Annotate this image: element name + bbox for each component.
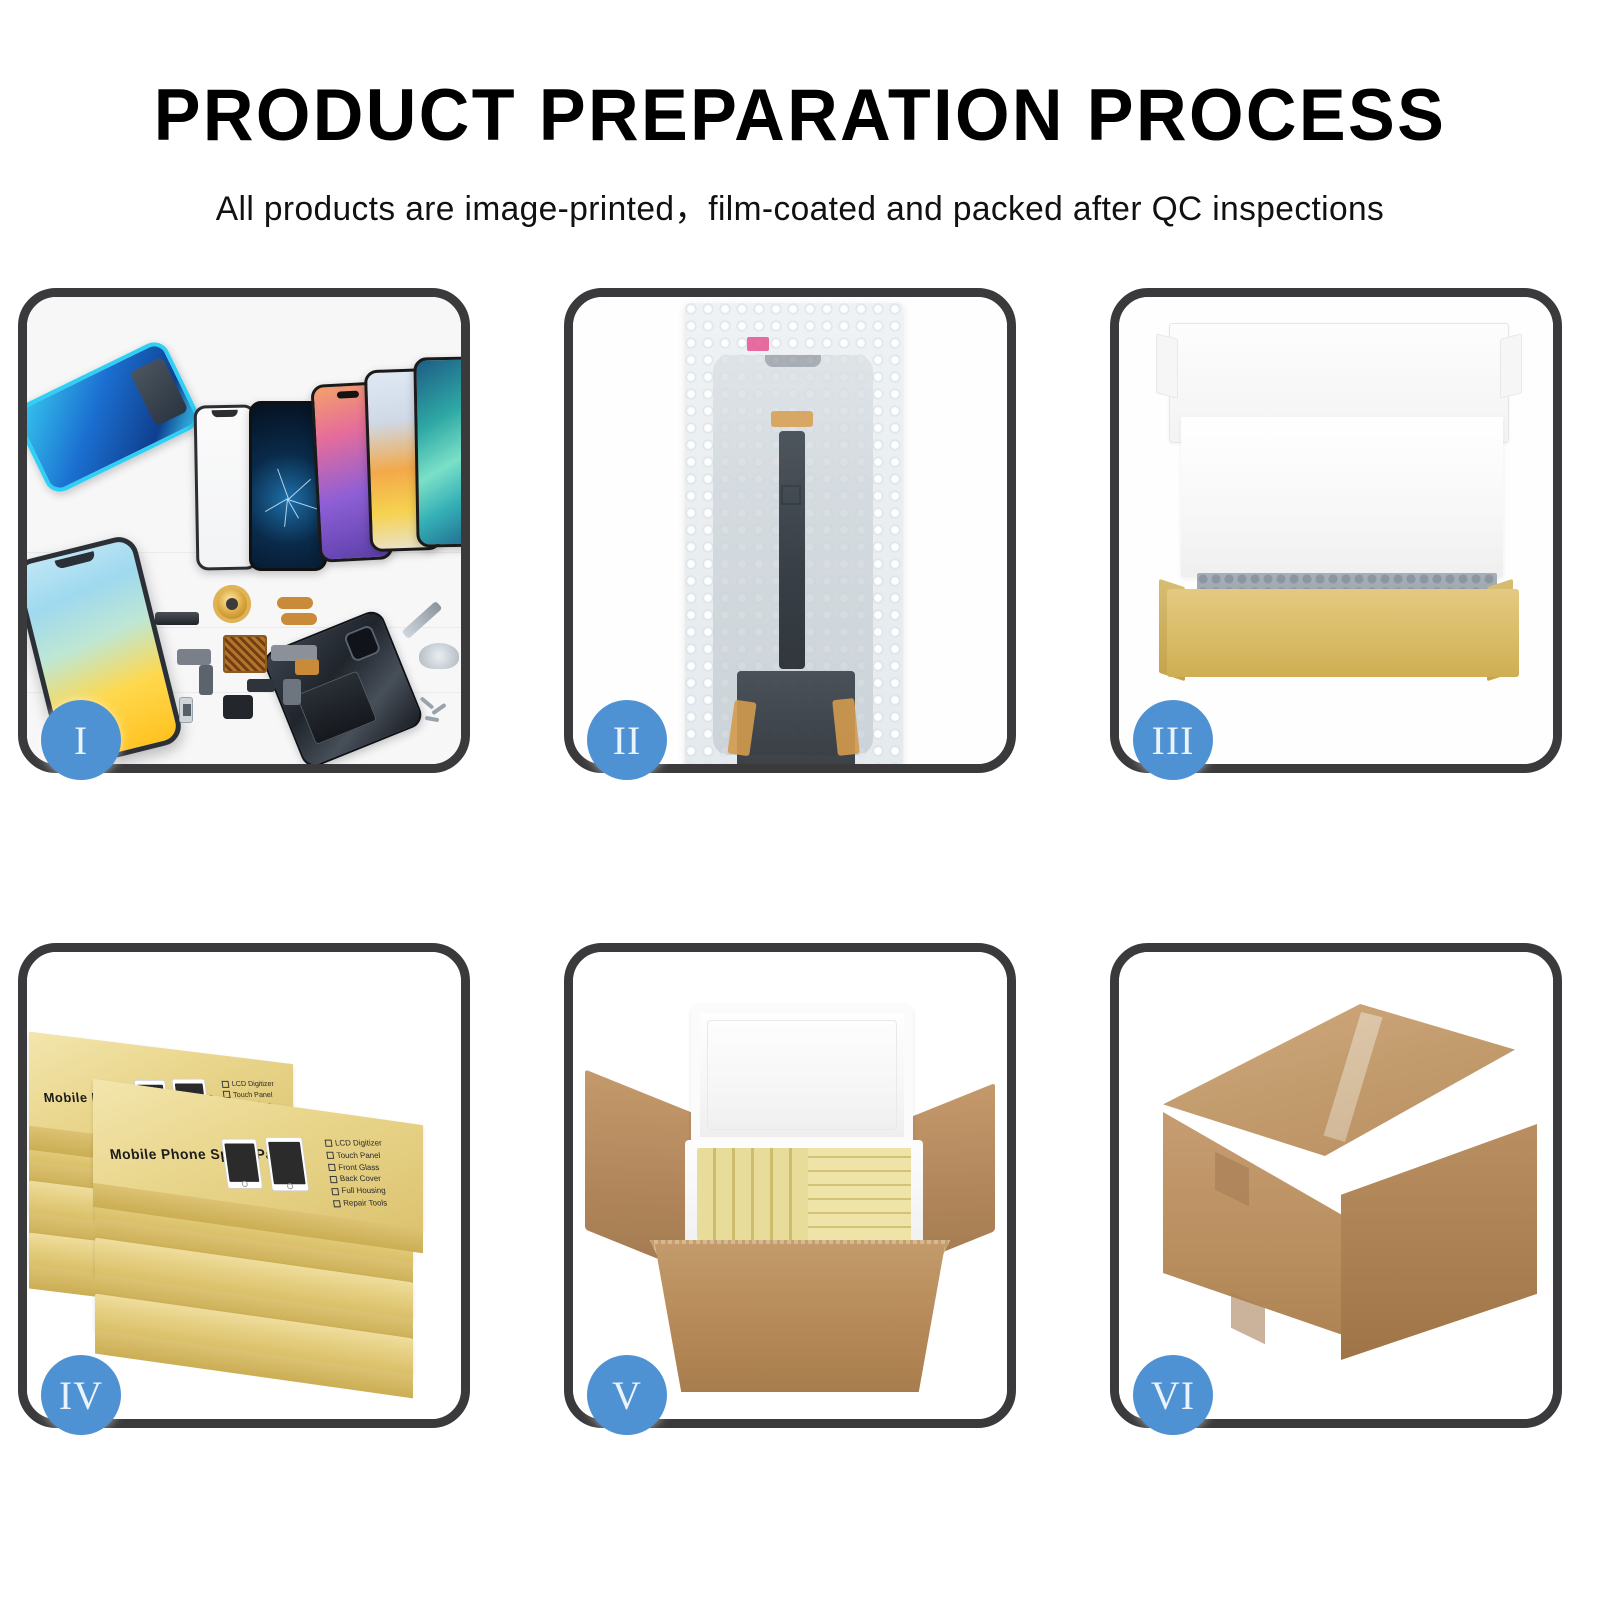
step-1-image	[27, 297, 461, 764]
step-4-image: Mobile Phone Spare Parts LCD Digitizer T…	[27, 952, 461, 1419]
teal-wave-phone	[413, 356, 461, 547]
process-step-card-1: I	[18, 288, 470, 773]
page-subtitle: All products are image-printed，film-coat…	[12, 181, 1588, 230]
carton-packing-scene	[573, 952, 1007, 1419]
step-badge-2: II	[587, 700, 667, 780]
pry-tool-icon	[402, 601, 443, 639]
flex-cable-6	[295, 659, 319, 675]
flex-cable-2	[199, 665, 213, 695]
process-step-grid: I II	[18, 288, 1582, 1408]
step-badge-6: VI	[1133, 1355, 1213, 1435]
checklist-item: Touch Panel	[326, 1150, 384, 1162]
retail-box-thumb-lcd	[222, 1140, 262, 1188]
carton-right-face	[1341, 1124, 1537, 1360]
infographic-page: PRODUCT PREPARATION PROCESS All products…	[0, 0, 1600, 1600]
camera-module	[343, 624, 382, 663]
step-badge-3: III	[1133, 700, 1213, 780]
sim-tray	[179, 697, 193, 723]
front-camera-part	[283, 679, 301, 705]
blue-back-frame	[27, 337, 204, 497]
carton-body	[635, 1244, 965, 1392]
loudspeaker-buzzer	[223, 695, 253, 719]
screwdriver-icon-2	[431, 703, 446, 715]
retail-box-stack-scene: Mobile Phone Spare Parts LCD Digitizer T…	[27, 952, 461, 1419]
gold-retail-boxes-inside	[697, 1148, 911, 1240]
sealed-carton-scene	[1119, 952, 1553, 1419]
process-step-card-5: V	[564, 943, 1016, 1428]
pink-label-tab	[747, 337, 769, 351]
kraft-tray-scene	[1119, 297, 1553, 764]
step-6-image	[1119, 952, 1553, 1419]
bubble-wrap-scene	[573, 297, 1007, 764]
gold-flex-pad	[771, 411, 813, 427]
flex-cable-3	[277, 597, 313, 609]
white-foam-sheet	[1181, 417, 1503, 577]
battery	[296, 670, 377, 745]
screwdriver-icon-1	[420, 696, 435, 709]
flex-cable-4	[281, 613, 317, 625]
wireless-charging-coil	[213, 585, 251, 623]
step-2-image	[573, 297, 1007, 764]
parts-collage-scene	[27, 297, 461, 764]
step-badge-5: V	[587, 1355, 667, 1435]
step-badge-1: I	[41, 700, 121, 780]
bubble-wrap-bag	[685, 303, 903, 764]
checklist-item: Full Housing	[331, 1185, 389, 1197]
earpiece-speaker	[155, 612, 199, 625]
styrofoam-lid	[691, 1004, 913, 1146]
retail-box-checklist: LCD Digitizer Touch Panel Front Glass Ba…	[324, 1138, 390, 1210]
retail-box-thumb-digitizer	[266, 1138, 309, 1191]
flex-cable-1	[177, 649, 211, 665]
cleaning-brush-icon	[419, 643, 459, 669]
retail-box-top-front: Mobile Phone Spare Parts LCD Digitizer T…	[93, 1079, 423, 1231]
checklist-item: Front Glass	[328, 1162, 386, 1174]
step-5-image	[573, 952, 1007, 1419]
process-step-card-6: VI	[1110, 943, 1562, 1428]
screwdriver-icon-3	[425, 716, 439, 722]
step-3-image	[1119, 297, 1553, 764]
step-badge-4: IV	[41, 1355, 121, 1435]
checklist-item: Repair Tools	[333, 1197, 391, 1209]
process-step-card-3: III	[1110, 288, 1562, 773]
kraft-tray-front	[1167, 589, 1519, 677]
checklist-item: Back Cover	[329, 1173, 387, 1185]
crack-pattern	[288, 499, 289, 500]
header: PRODUCT PREPARATION PROCESS All products…	[0, 0, 1600, 230]
process-step-card-4: Mobile Phone Spare Parts LCD Digitizer T…	[18, 943, 470, 1428]
checklist-item: LCD Digitizer	[324, 1138, 382, 1150]
logic-board-chip	[223, 635, 267, 673]
main-flex-strip	[779, 431, 805, 669]
home-button-part	[247, 679, 275, 692]
checklist-item: LCD Digitizer	[221, 1079, 274, 1090]
process-step-card-2: II	[564, 288, 1016, 773]
page-title: PRODUCT PREPARATION PROCESS	[32, 78, 1568, 155]
